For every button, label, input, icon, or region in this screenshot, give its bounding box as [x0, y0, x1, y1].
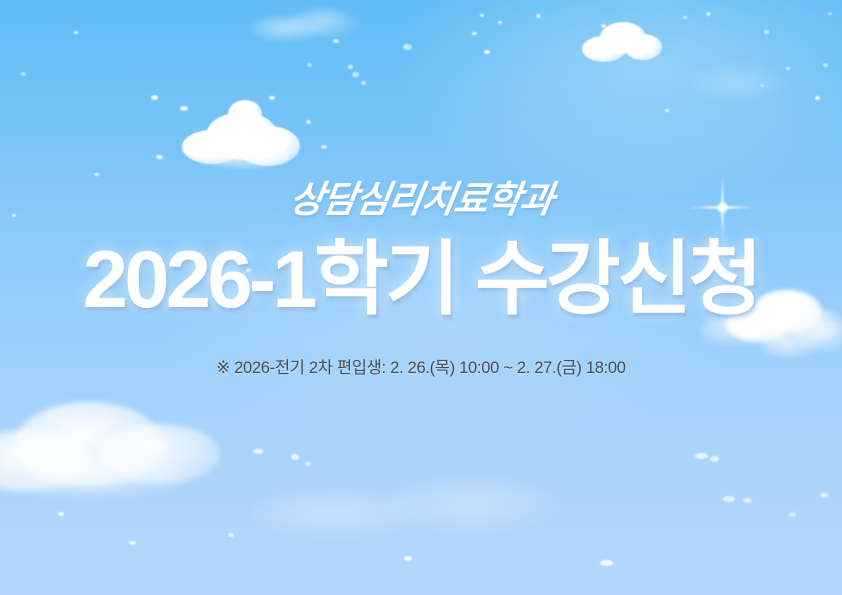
sparkle-dot — [480, 14, 484, 17]
sparkle-dot — [306, 120, 311, 124]
sparkle-dot — [743, 498, 752, 503]
sparkle-dot — [498, 21, 502, 24]
sparkle-dot — [361, 81, 366, 85]
sparkle-dot — [94, 173, 99, 176]
sparkle-dot — [536, 14, 541, 18]
sparkle-dot — [333, 39, 339, 43]
sparkle-dot — [789, 512, 796, 517]
sparkle-dot — [764, 30, 769, 34]
sparkle-dot — [180, 106, 188, 111]
sparkle-dot — [403, 44, 412, 50]
department-name: 상담심리치료학과 — [286, 178, 556, 222]
sparkle-dot — [820, 493, 829, 498]
sparkle-dot — [723, 496, 735, 502]
sparkle-dot — [151, 95, 158, 100]
sparkle-dot — [683, 16, 687, 19]
sparkle-star-icon — [688, 173, 756, 241]
sparkle-dot — [58, 512, 64, 516]
sparkle-dot — [710, 456, 719, 462]
sparkle-dot — [823, 63, 828, 67]
sparkle-dot — [307, 63, 312, 67]
sparkle-dot — [706, 12, 711, 16]
sparkle-dot — [815, 96, 820, 100]
schedule-note: ※ 2026-전기 2차 편입생: 2. 26.(목) 10:00 ~ 2. 2… — [0, 356, 842, 380]
sparkle-dot — [269, 96, 275, 100]
sparkle-dot — [404, 556, 412, 561]
poster-text-block: 상담심리치료학과 2026-1학기 수강신청 ※ 2026-전기 2차 편입생:… — [0, 178, 842, 380]
department-name-line: 상담심리치료학과 — [0, 178, 842, 222]
cloud-top-right-faint — [690, 56, 840, 106]
sparkle-dot — [228, 533, 234, 537]
sparkle-dot — [601, 24, 606, 28]
cloud-bottom-center-band — [250, 476, 550, 546]
cloud-behind-title-right — [700, 298, 820, 352]
sparkle-dot — [74, 31, 78, 34]
cloud-upper-left — [176, 104, 312, 176]
sparkle-dot — [472, 32, 477, 35]
sparkle-dot — [760, 84, 764, 87]
cloud-top-right-small — [580, 18, 666, 66]
sparkle-dot — [129, 541, 136, 545]
sparkle-dot — [21, 72, 26, 76]
cloud-bottom-left-large — [0, 396, 230, 506]
sky-glow-center — [152, 179, 741, 453]
sparkle-dot — [156, 155, 163, 159]
sparkle-dot — [348, 65, 353, 69]
sparkle-dot — [246, 268, 251, 272]
course-registration-poster: 상담심리치료학과 2026-1학기 수강신청 ※ 2026-전기 2차 편입생:… — [0, 0, 842, 595]
page-title: 2026-1학기 수강신청 — [0, 234, 842, 326]
sparkle-dot — [665, 109, 669, 112]
sparkle-dot — [828, 12, 832, 15]
cloud-right-edge — [760, 318, 842, 362]
sparkle-dot — [695, 453, 708, 459]
sparkle-dot — [786, 67, 790, 70]
sparkle-dot — [600, 560, 613, 566]
sparkle-dot — [291, 454, 299, 460]
sparkle-dot — [253, 449, 264, 454]
sparkle-dot — [321, 145, 327, 149]
sparkle-dot — [305, 462, 311, 466]
cloud-right-middle — [726, 286, 842, 352]
sparkle-dot — [352, 72, 359, 77]
cloud-top-center-wisp — [250, 6, 360, 46]
sky-glow-top — [387, 0, 842, 202]
sparkle-dot — [484, 50, 490, 54]
sparkle-dot — [12, 214, 16, 217]
